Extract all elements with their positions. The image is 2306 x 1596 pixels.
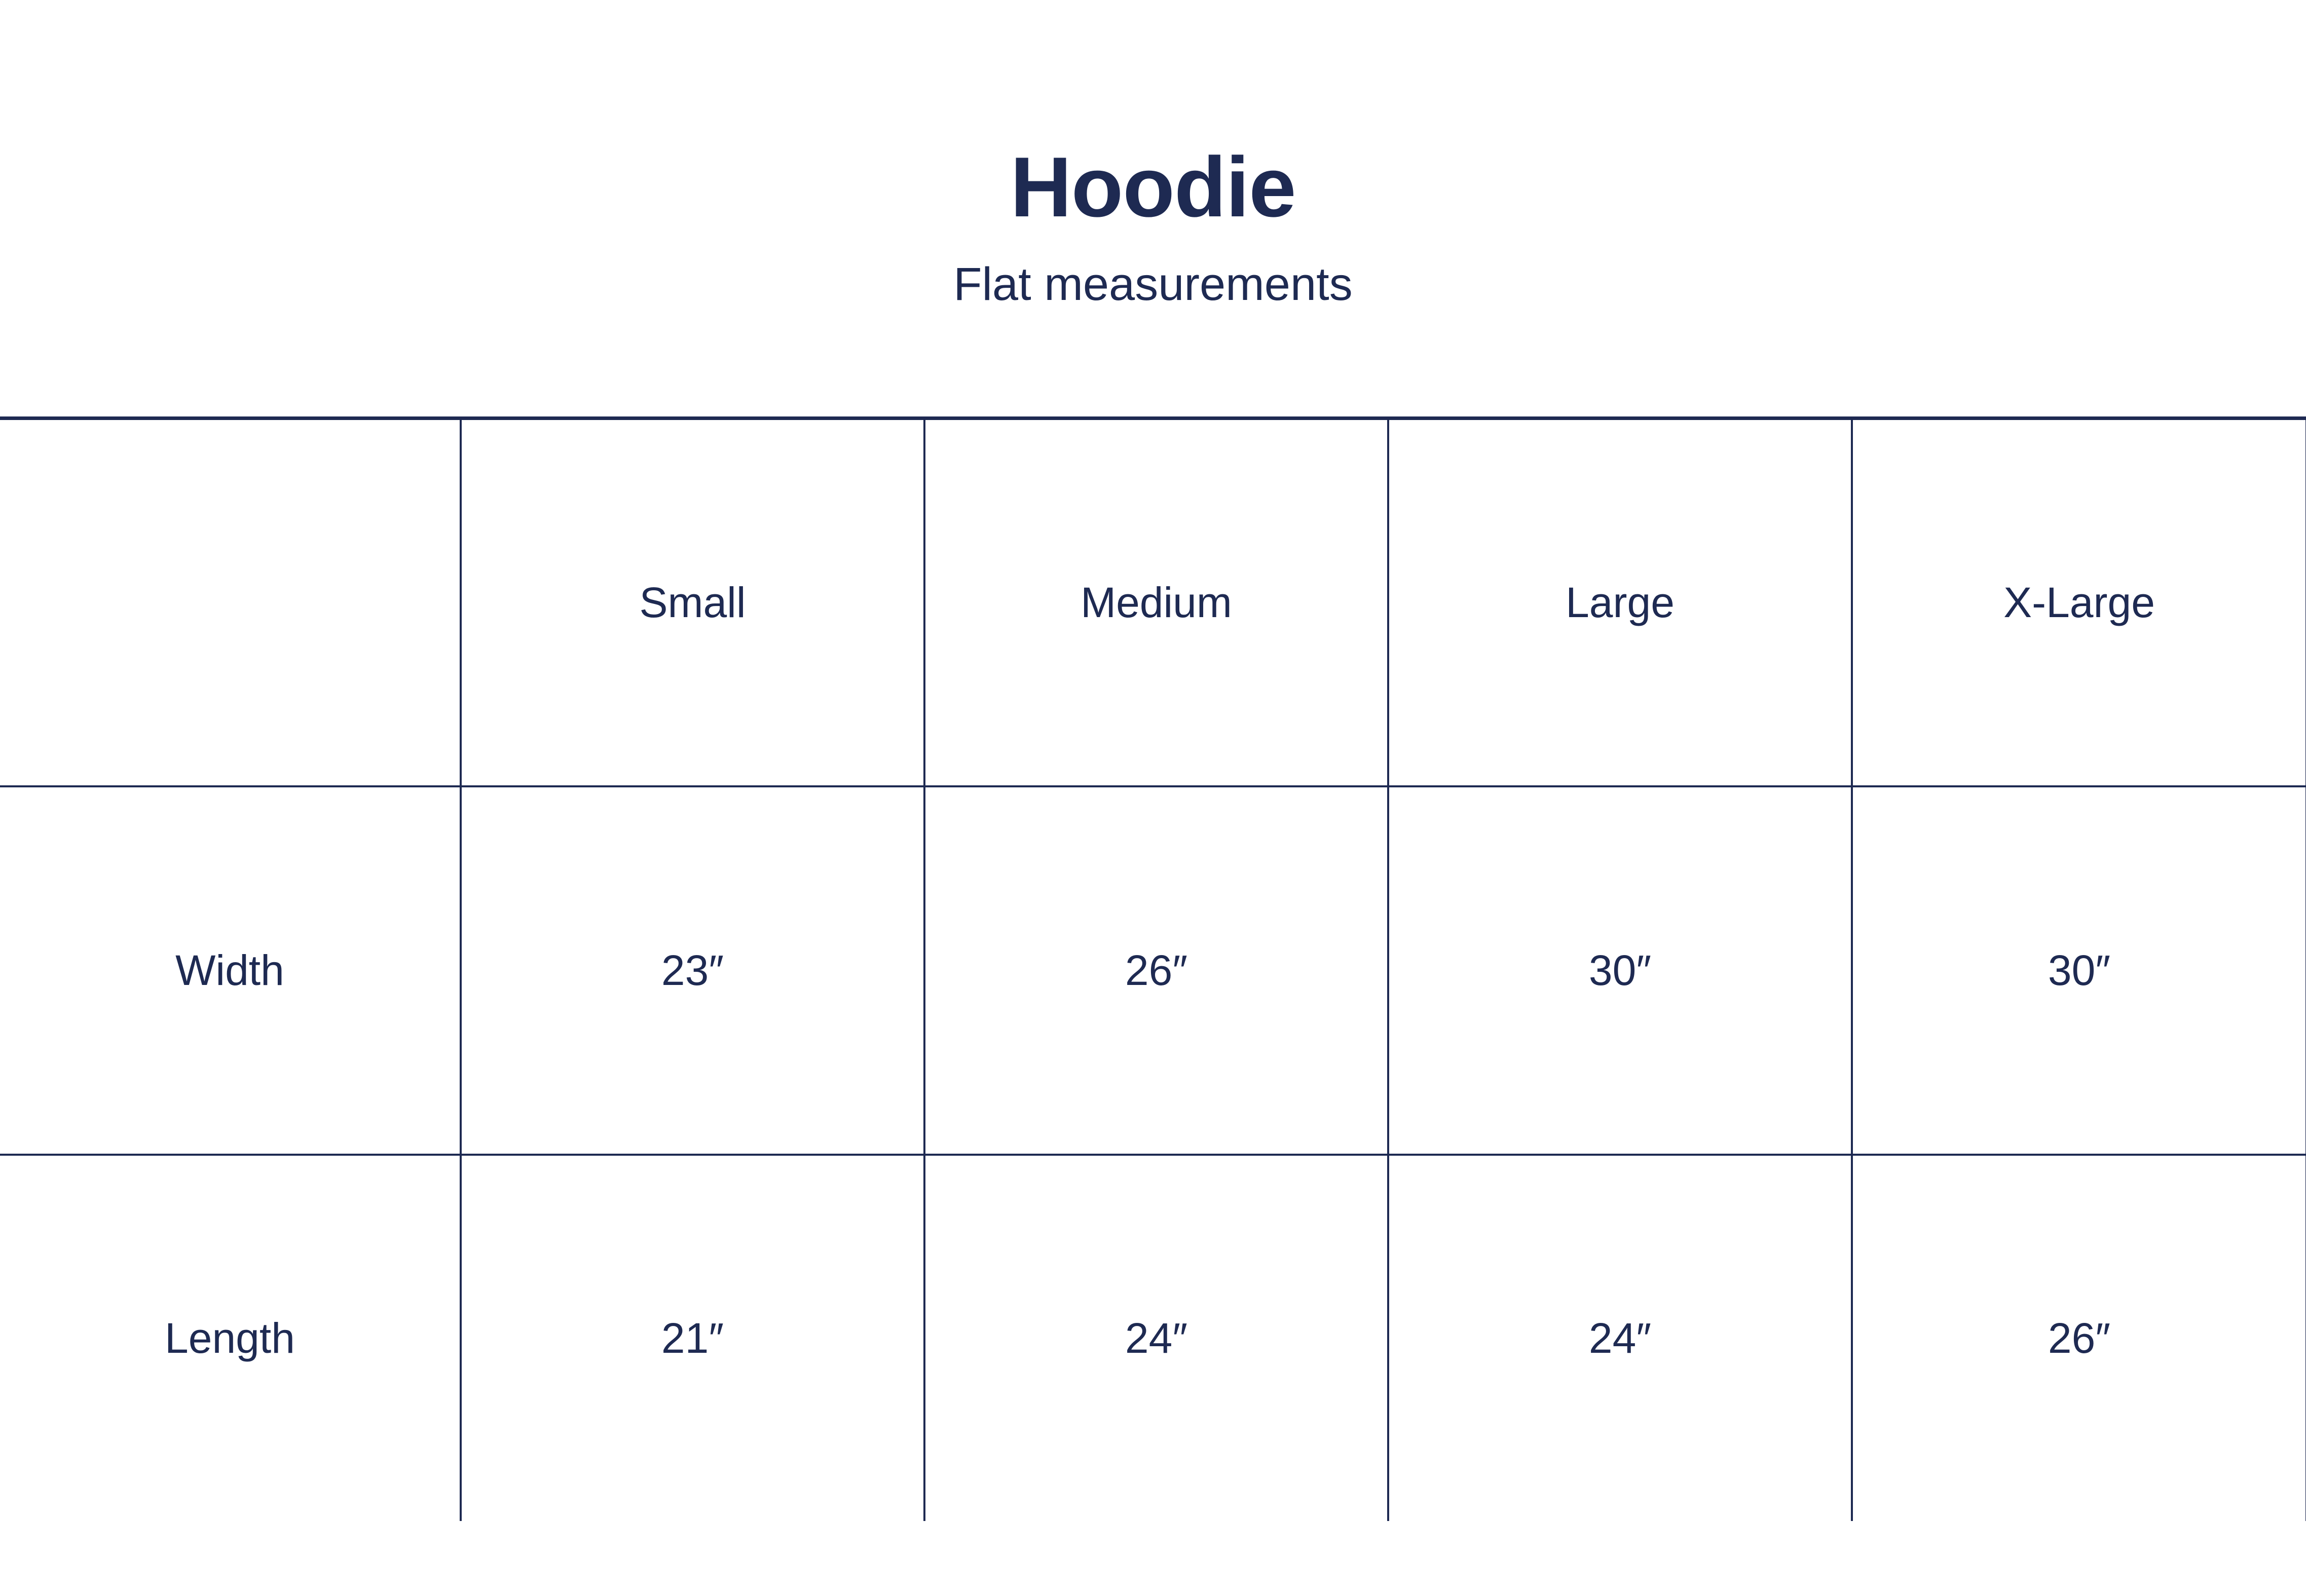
row-label-length: Length: [0, 1155, 461, 1521]
heading-block: Hoodie Flat measurements: [0, 0, 2306, 308]
page-subtitle: Flat measurements: [0, 230, 2306, 308]
table-header: Small Medium Large X-Large: [0, 419, 2306, 787]
cell-width-small: 23″: [461, 786, 924, 1155]
cell-length-large: 24″: [1388, 1155, 1852, 1521]
cell-length-x-large: 26″: [1852, 1155, 2306, 1521]
page-title: Hoodie: [0, 0, 2306, 230]
cell-length-medium: 24″: [924, 1155, 1388, 1521]
table-row: Width 23″ 26″ 30″ 30″: [0, 786, 2306, 1155]
table-header-row: Small Medium Large X-Large: [0, 419, 2306, 787]
cell-width-large: 30″: [1388, 786, 1852, 1155]
column-header-large: Large: [1388, 419, 1852, 787]
table-body: Width 23″ 26″ 30″ 30″ Length 21″ 24″ 24″…: [0, 786, 2306, 1521]
column-header-medium: Medium: [924, 419, 1388, 787]
table-corner-cell: [0, 419, 461, 787]
cell-width-x-large: 30″: [1852, 786, 2306, 1155]
size-chart-page: Hoodie Flat measurements Small Medium La…: [0, 0, 2306, 1596]
row-label-width: Width: [0, 786, 461, 1155]
table-row: Length 21″ 24″ 24″ 26″: [0, 1155, 2306, 1521]
column-header-x-large: X-Large: [1852, 419, 2306, 787]
cell-width-medium: 26″: [924, 786, 1388, 1155]
column-header-small: Small: [461, 419, 924, 787]
measurements-table: Small Medium Large X-Large Width 23″ 26″…: [0, 416, 2306, 1521]
cell-length-small: 21″: [461, 1155, 924, 1521]
